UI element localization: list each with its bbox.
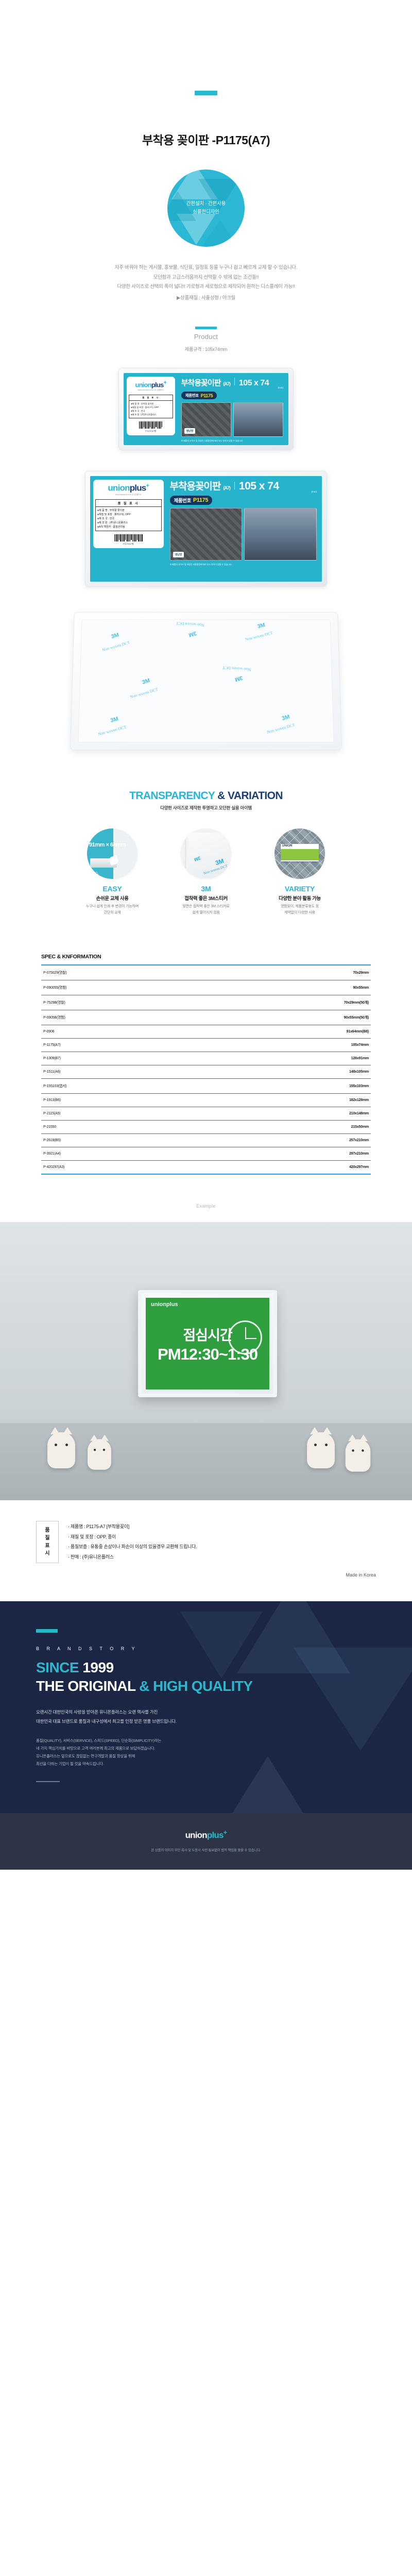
spec-code: P-1511(A6) bbox=[41, 1065, 202, 1079]
brand-since-label: SINCE bbox=[36, 1659, 79, 1675]
package-photo-fence: 냉난방 bbox=[181, 402, 231, 437]
feature-desc-line1: 누구나 쉽게 인쇄 후 변경이 가능하며 bbox=[79, 904, 146, 910]
package-quality-title: 품 질 표 시 bbox=[96, 500, 161, 507]
table-row: P-1913(B6)182x128mm bbox=[41, 1094, 371, 1107]
spec-size: 297x210mm bbox=[202, 1147, 371, 1161]
package-badge-label: 제품번호 bbox=[185, 393, 199, 398]
hero-desc-line-1: 자주 바꿔야 하는 게시물, 홍보물, 식단표, 일정표 등을 누구나 쉽고 빠… bbox=[0, 263, 412, 273]
package-foot-note: ※ 제품의 사이즈 및 모양은 사용환경에 따라 다소 차이가 있을 수 있습니… bbox=[181, 439, 283, 443]
title-divider bbox=[234, 482, 235, 489]
barcode-icon bbox=[129, 421, 173, 429]
product-spec-line: 제품규격 : 105x74mm bbox=[0, 346, 412, 352]
quality-info-lines: · 제품명 : P1175-A7 [부착용꽂이] · 재질 및 포장 : OPP… bbox=[59, 1521, 376, 1563]
table-row: P-3921(A4)297x210mm bbox=[41, 1147, 371, 1161]
package-badge-code: P1175 bbox=[201, 393, 213, 398]
table-row: P-155103(엽서)155x103mm bbox=[41, 1079, 371, 1094]
package-quality-box: 품 질 표 시 ●제 품 명 : 부착용 꽂이판 ●재질 및 포장 : 플라스틱… bbox=[95, 499, 162, 531]
package-shot-small: unionplus+ www.unionplus.co.kr 유니온플러스 품 … bbox=[118, 368, 294, 450]
brand-p2-line4: 최선을 다하는 기업이 될 것을 약속드립니다. bbox=[36, 1760, 376, 1768]
spec-code: P-420297(A3) bbox=[41, 1161, 202, 1175]
brand-paragraph-2: 품질(QUALITY), 서비스(SERVICE), 스피드(SPEED), 단… bbox=[36, 1737, 376, 1768]
product-detail-page: 부착용 꽂이판 -P1175(A7) 간편설치 · 간편사용 심플한디자인 자주… bbox=[0, 0, 412, 1870]
quality-info-section: 품 질 표 시 · 제품명 : P1175-A7 [부착용꽂이] · 재질 및 … bbox=[36, 1521, 376, 1563]
footer-logo-union: union bbox=[185, 1831, 207, 1840]
spec-code: P-3921(A4) bbox=[41, 1147, 202, 1161]
spec-code: P-2619(B5) bbox=[41, 1134, 202, 1147]
hero-desc-line-3: 다양한 사이즈로 선택의 폭이 넓다!! 가로형과 세로형으로 제작되어 원하는… bbox=[0, 282, 412, 292]
hero-badge-text: 간편설치 · 간편사용 심플한디자인 bbox=[186, 200, 226, 216]
feature-title-en: VARIETY bbox=[266, 885, 333, 893]
transparency-title-part2: & VARIATION bbox=[217, 790, 283, 802]
logo-plus-icon: + bbox=[146, 483, 149, 489]
package-quality-list: ●제 품 명 : 부착용 꽂이판 ●재질 및 포장 : 플라스틱, OPP ●제… bbox=[96, 507, 161, 531]
package-photo-display bbox=[244, 508, 317, 561]
spec-size: 148x105mm bbox=[202, 1065, 371, 1079]
hero-accent-bar bbox=[195, 91, 217, 95]
nonwoven-label: Non·woven DCT bbox=[101, 640, 130, 653]
table-row: P-0905B(명함)90x55mm(50개) bbox=[41, 1010, 371, 1025]
package-photo-fence: 냉난방 bbox=[170, 508, 243, 561]
page-title: 부착용 꽂이판 -P1175(A7) bbox=[0, 130, 412, 148]
lifestyle-display-frame: unionplus 점심시간 PM12:30~1:30 bbox=[138, 1290, 277, 1397]
list-item: ●제 조 원 : (주)유니온플러스 bbox=[131, 413, 171, 417]
feature-desc-line2: 쉽게 떨어지지 않음 bbox=[173, 910, 239, 916]
spec-size: 420x297mm bbox=[202, 1161, 371, 1175]
vtitle-char: 품 bbox=[45, 1527, 49, 1534]
feature-image-easy: 91mm × 64mm ♺♺ bbox=[87, 828, 138, 879]
package-code-text: P1175 A7형 bbox=[95, 543, 162, 546]
3m-logo-icon: 3M bbox=[110, 716, 119, 724]
list-item: ●제 조 국 : 한국 bbox=[131, 410, 171, 413]
spec-size: 105x74mm bbox=[202, 1039, 371, 1052]
package-badge-code: P1175 bbox=[193, 497, 208, 503]
table-row: P-7529B(명찰)70x29mm(50개) bbox=[41, 995, 371, 1010]
footer-logo-plus-icon: + bbox=[224, 1828, 227, 1836]
3m-logo-icon: 3M bbox=[234, 674, 244, 683]
list-item: ●제 조 원 : (주)유니온플러스 bbox=[97, 521, 160, 525]
spec-code: P-7529B(명찰) bbox=[41, 995, 202, 1010]
brand-p1-line1: 오랜시간 대한민국의 사랑을 받아온 유니온플러스는 오랜 역사를 가진 bbox=[36, 1708, 376, 1717]
brand-p2-line3: 유니온플러스는 앞으로도 끊임없는 연구개발과 품질 향상을 위해 bbox=[36, 1752, 376, 1760]
package-quality-box: 품 질 표 시 ●제 품 명 : 부착용 꽂이판 ●재질 및 포장 : 플라스틱… bbox=[129, 395, 173, 418]
page-footer: unionplus+ 본 상품의 이미지 무단 복사 및 도용시 사전 통보없이… bbox=[0, 1813, 412, 1870]
logo-url-text: www.unionplus.co.kr 유니온플러스 bbox=[95, 494, 162, 496]
nonwoven-label: Non·woven DCT bbox=[176, 621, 204, 627]
spec-size: 91x64mm(B8) bbox=[202, 1025, 371, 1039]
spec-table: P-075029(명찰)70x29mm P-090055(명함)90x55mm … bbox=[41, 964, 371, 1175]
brand-headline: THE ORIGINAL & HIGH QUALITY bbox=[36, 1678, 376, 1694]
3m-logo-icon: 3M bbox=[188, 630, 197, 638]
package-right-panel: 부착용꽂이판(A7) 105 x 74 (mm) 제품번호 P1175 냉난방 … bbox=[178, 373, 288, 445]
package-quality-title: 품 질 표 시 bbox=[129, 395, 173, 401]
feature-desc-line2: 간단히 교체 bbox=[79, 910, 146, 916]
package-badge-label: 제품번호 bbox=[174, 497, 191, 504]
hero-badge-line2: 심플한디자인 bbox=[186, 208, 226, 216]
logo-union-text: union bbox=[135, 381, 151, 388]
package-left-panel: unionplus+ www.unionplus.co.kr 유니온플러스 품 … bbox=[124, 373, 178, 445]
quality-info-vertical-title: 품 질 표 시 bbox=[36, 1521, 59, 1563]
table-row: P-420297(A3)420x297mm bbox=[41, 1161, 371, 1175]
spec-code: P-1309(B7) bbox=[41, 1052, 202, 1065]
barcode-icon bbox=[95, 534, 162, 541]
3m-logo-icon: 3M bbox=[111, 632, 120, 640]
package-title-size-note: (A7) bbox=[223, 486, 230, 490]
logo-union-text: union bbox=[108, 483, 129, 493]
table-row: P-1511(A6)148x105mm bbox=[41, 1065, 371, 1079]
package-dimension: 105 x 74 bbox=[239, 481, 279, 492]
feature-title-en: 3M bbox=[173, 885, 239, 893]
hero-section: 부착용 꽂이판 -P1175(A7) 간편설치 · 간편사용 심플한디자인 자주… bbox=[0, 0, 412, 303]
feature-desc-line1: 뒷면은 접착력 좋은 3M 스티커로 bbox=[173, 904, 239, 910]
feature-title-ko: 접착력 좋은 3M스티커 bbox=[173, 894, 239, 902]
brand-headline-cyan: & HIGH QUALITY bbox=[139, 1678, 252, 1694]
footer-logo-plus: plus bbox=[207, 1831, 224, 1840]
feature-image-3m: 3M Non·woven DCT 3M bbox=[181, 828, 231, 879]
hero-desc-line-2: 모던함과 고급스러움까지 선택할 수 밖에 없는 조건들!! bbox=[0, 273, 412, 283]
spec-code: P-075029(명찰) bbox=[41, 965, 202, 980]
spec-code: P-21550 bbox=[41, 1121, 202, 1134]
brand-divider bbox=[36, 1781, 60, 1782]
quality-info-line: · 판매 : (주)유니온플러스 bbox=[68, 1552, 376, 1562]
brand-paragraph-1: 오랜시간 대한민국의 사랑을 받아온 유니온플러스는 오랜 역사를 가진 대한민… bbox=[36, 1708, 376, 1726]
3m-logo-icon: 3M bbox=[281, 714, 290, 722]
brand-p1-line2: 대한민국 대표 브랜드로 품질과 내구성에서 최고를 인정 받은 명품 브랜드입… bbox=[36, 1717, 376, 1726]
feature-item-3m: 3M Non·woven DCT 3M 3M 접착력 좋은 3M스티커 뒷면은 … bbox=[173, 828, 239, 916]
package-photo-tag: 냉난방 bbox=[173, 552, 184, 557]
lifestyle-photo: unionplus 점심시간 PM12:30~1:30 bbox=[0, 1222, 412, 1500]
logo-plus-icon: + bbox=[163, 380, 166, 386]
3m-logo-icon: 3M bbox=[257, 622, 266, 630]
example-label: Example bbox=[0, 1204, 412, 1209]
transparency-subtitle: 다양한 사이즈로 제작한 투명하고 모던한 실용 아이템 bbox=[0, 805, 412, 811]
spec-size: 70x29mm(50개) bbox=[202, 995, 371, 1010]
nonwoven-label: Non·woven DCT bbox=[222, 665, 251, 672]
package-face: unionplus+ www.unionplus.co.kr 유니온플러스 품 … bbox=[90, 476, 322, 582]
spec-size: 155x103mm bbox=[202, 1079, 371, 1094]
transparency-section: TRANSPARENCY & VARIATION 다양한 사이즈로 제작한 투명… bbox=[0, 790, 412, 916]
vtitle-char: 질 bbox=[45, 1534, 49, 1542]
spec-size: 215x50mm bbox=[202, 1121, 371, 1134]
lifestyle-insert-card: unionplus 점심시간 PM12:30~1:30 bbox=[146, 1298, 269, 1389]
spec-heading: SPEC & KNFORMATION bbox=[41, 954, 371, 960]
spec-size: 210x148mm bbox=[202, 1107, 371, 1121]
spec-size: 90x55mm(50개) bbox=[202, 1010, 371, 1025]
package-code-text: P1175 A7형 bbox=[129, 430, 173, 433]
package-title-ko: 부착용꽂이판 bbox=[170, 482, 221, 492]
feature-title-en: EASY bbox=[79, 885, 146, 893]
facet-decor-icon bbox=[198, 220, 242, 247]
sign-logo-text: UNION bbox=[282, 844, 292, 848]
list-item: ●재질 및 포장 : 플라스틱, OPP bbox=[97, 513, 160, 517]
spec-code: P-0906 bbox=[41, 1025, 202, 1039]
list-item: ●제 품 명 : 부착용 꽂이판 bbox=[131, 402, 171, 406]
spec-code: P-1913(B6) bbox=[41, 1094, 202, 1107]
package-photo-strip: 냉난방 bbox=[170, 508, 317, 561]
lifestyle-line1: 점심시간 bbox=[183, 1324, 232, 1344]
package-dimension: 105 x 74 bbox=[239, 379, 269, 387]
table-row: P-21550215x50mm bbox=[41, 1121, 371, 1134]
nonwoven-label: Non·woven DCT bbox=[266, 722, 296, 735]
product-section-label: Product bbox=[0, 327, 412, 341]
sign-card-icon: UNION bbox=[281, 844, 319, 861]
feature-title-ko: 다양한 분야 활동 가능 bbox=[266, 894, 333, 902]
package-photo-tag: 냉난방 bbox=[184, 428, 196, 434]
table-row: P-2619(B5)257x210mm bbox=[41, 1134, 371, 1147]
table-row: P-2115(A5)210x148mm bbox=[41, 1107, 371, 1121]
package-photo-strip: 냉난방 bbox=[181, 402, 283, 437]
spec-section: SPEC & KNFORMATION P-075029(명찰)70x29mm P… bbox=[41, 954, 371, 1175]
3m-logo-icon: 3M bbox=[142, 677, 151, 686]
package-title-ko: 부착용꽂이판 bbox=[181, 379, 221, 387]
package-code-badge: 제품번호 P1175 bbox=[181, 392, 217, 399]
sign-banner bbox=[281, 849, 319, 860]
feature-desc: 누구나 쉽게 인쇄 후 변경이 가능하며 간단히 교체 bbox=[79, 904, 146, 916]
package-photo-display bbox=[233, 402, 283, 437]
recycle-icon: ♺♺ bbox=[91, 871, 98, 876]
table-row: P-1175(A7)105x74mm bbox=[41, 1039, 371, 1052]
transparency-title-part1: TRANSPARENCY bbox=[129, 790, 215, 802]
cat-figurine-icon bbox=[47, 1432, 75, 1468]
product-label-bar bbox=[195, 327, 217, 329]
feature-item-variety: UNION VARIETY 다양한 분야 활동 가능 명함꽂이, 제품분류용도 … bbox=[266, 828, 333, 916]
logo-url-text: www.unionplus.co.kr 유니온플러스 bbox=[129, 389, 173, 392]
feature-title-ko: 손쉬운 교체 사용 bbox=[79, 894, 146, 902]
spec-code: P-155103(엽서) bbox=[41, 1079, 202, 1094]
package-right-panel: 부착용꽂이판(A7) 105 x 74 (mm) 제품번호 P1175 냉난방 … bbox=[167, 476, 322, 582]
cat-figurine-icon bbox=[346, 1439, 371, 1472]
package-brand-card: unionplus+ www.unionplus.co.kr 유니온플러스 품 … bbox=[127, 377, 175, 435]
feature-desc-line2: 제약없이 다양한 사용 bbox=[266, 910, 333, 916]
table-row: P-090691x64mm(B8) bbox=[41, 1025, 371, 1039]
hero-badge-line1: 간편설치 · 간편사용 bbox=[186, 200, 226, 208]
package-title-size-note: (A7) bbox=[223, 382, 230, 386]
hero-badge-wrap: 간편설치 · 간편사용 심플한디자인 bbox=[0, 170, 412, 247]
package-code-badge: 제품번호 P1175 bbox=[170, 496, 213, 505]
brand-story-section: B R A N D S T O R Y SINCE 1999 THE ORIGI… bbox=[0, 1601, 412, 1813]
cat-figurine-icon bbox=[88, 1439, 111, 1470]
feature-dimension-caption: 91mm × 64mm bbox=[89, 842, 126, 848]
spec-code: P-0905B(명함) bbox=[41, 1010, 202, 1025]
brand-since-year: 1999 bbox=[82, 1659, 113, 1675]
nonwoven-label: Non·woven DCT bbox=[245, 631, 273, 642]
brand-p2-line2: 네 가지 핵심가치를 바탕으로 고객 여러분께 최고의 제품으로 보답하겠습니다… bbox=[36, 1744, 376, 1752]
logo-plus-text: plus bbox=[151, 381, 164, 388]
package-quality-list: ●제 품 명 : 부착용 꽂이판 ●재질 및 포장 : 플라스틱, OPP ●제… bbox=[129, 401, 173, 418]
spec-size: 70x29mm bbox=[202, 965, 371, 980]
made-in-label: Made in Korea bbox=[36, 1572, 376, 1578]
vtitle-char: 시 bbox=[45, 1550, 49, 1557]
cat-figurine-icon bbox=[307, 1432, 335, 1468]
list-item: ●제 품 명 : 부착용 꽂이판 bbox=[97, 509, 160, 513]
package-shot-back-adhesive: 3M Non·woven DCT 3M Non·woven DCT 3M Non… bbox=[70, 612, 342, 751]
vtitle-char: 표 bbox=[45, 1542, 49, 1550]
list-item: ●재질 및 포장 : 플라스틱, OPP bbox=[131, 406, 171, 410]
footer-copyright-note: 본 상품의 이미지 무단 복사 및 도용시 사전 통보없이 법적 책임을 물을 … bbox=[0, 1847, 412, 1852]
table-row: P-090055(명함)90x55mm bbox=[41, 980, 371, 995]
feature-desc-line1: 명함꽂이, 제품분류용도 등 bbox=[266, 904, 333, 910]
list-item: ●제 조 국 : 한국 bbox=[97, 517, 160, 521]
quality-info-line: · 제품명 : P1175-A7 [부착용꽂이] bbox=[68, 1522, 376, 1532]
product-label-text: Product bbox=[0, 333, 412, 341]
nonwoven-label: Non·woven DCT bbox=[97, 724, 127, 737]
list-item: ●A/S 책임자 : 품질관리팀 bbox=[97, 525, 160, 529]
package-shot-large: unionplus+ www.unionplus.co.kr 유니온플러스 품 … bbox=[85, 471, 327, 587]
feature-desc: 명함꽂이, 제품분류용도 등 제약없이 다양한 사용 bbox=[266, 904, 333, 916]
brand-accent-bar bbox=[36, 1629, 58, 1633]
logo-plus-text: plus bbox=[130, 483, 146, 493]
spec-size: 90x55mm bbox=[202, 980, 371, 995]
clock-icon bbox=[228, 1320, 262, 1354]
nonwoven-label: Non·woven DCT bbox=[129, 687, 158, 699]
package-face: unionplus+ www.unionplus.co.kr 유니온플러스 품 … bbox=[124, 373, 288, 445]
title-divider bbox=[234, 378, 235, 385]
spec-size: 128x91mm bbox=[202, 1052, 371, 1065]
spec-table-body: P-075029(명찰)70x29mm P-090055(명함)90x55mm … bbox=[41, 965, 371, 1174]
transparency-title: TRANSPARENCY & VARIATION bbox=[0, 790, 412, 802]
package-title-row: 부착용꽂이판(A7) 105 x 74 bbox=[170, 481, 317, 492]
brand-story-eyebrow: B R A N D S T O R Y bbox=[36, 1646, 376, 1651]
table-row: P-1309(B7)128x91mm bbox=[41, 1052, 371, 1065]
spec-code: P-090055(명함) bbox=[41, 980, 202, 995]
feature-list: 91mm × 64mm ♺♺ EASY 손쉬운 교체 사용 누구나 쉽게 인쇄 … bbox=[0, 828, 412, 916]
feature-desc: 뒷면은 접착력 좋은 3M 스티커로 쉽게 떨어지지 않음 bbox=[173, 904, 239, 916]
hero-material-line: ▶상품재질 : 사출성형 / 아크릴 bbox=[0, 294, 412, 303]
panel-edge-icon bbox=[185, 834, 187, 876]
quality-info-line: · 품질보증 : 유통중 손상이나 파손이 이상의 있을경우 교환해 드립니다. bbox=[68, 1542, 376, 1552]
package-foot-note: ※ 제품의 사이즈 및 모양은 사용환경에 따라 다소 차이가 있을 수 있습니… bbox=[170, 563, 317, 566]
unionplus-logo: unionplus+ bbox=[95, 483, 162, 493]
table-row: P-075029(명찰)70x29mm bbox=[41, 965, 371, 980]
brand-p2-line1: 품질(QUALITY), 서비스(SERVICE), 스피드(SPEED), 단… bbox=[36, 1737, 376, 1744]
unionplus-logo: unionplus+ bbox=[129, 380, 173, 388]
footer-logo: unionplus+ bbox=[0, 1828, 412, 1841]
hero-badge-circle: 간편설치 · 간편사용 심플한디자인 bbox=[167, 170, 245, 247]
package-left-panel: unionplus+ www.unionplus.co.kr 유니온플러스 품 … bbox=[90, 476, 167, 582]
adhesive-sheet: 3M Non·woven DCT 3M Non·woven DCT 3M Non… bbox=[78, 619, 334, 742]
feature-item-easy: 91mm × 64mm ♺♺ EASY 손쉬운 교체 사용 누구나 쉽게 인쇄 … bbox=[79, 828, 146, 916]
spec-code: P-1175(A7) bbox=[41, 1039, 202, 1052]
spec-size: 257x210mm bbox=[202, 1134, 371, 1147]
spec-code: P-2115(A5) bbox=[41, 1107, 202, 1121]
quality-info-line: · 재질 및 포장 : OPP, 종이 bbox=[68, 1532, 376, 1542]
brand-since-line: SINCE 1999 bbox=[36, 1659, 376, 1676]
spec-size: 182x128mm bbox=[202, 1094, 371, 1107]
package-brand-card: unionplus+ www.unionplus.co.kr 유니온플러스 품 … bbox=[93, 480, 164, 548]
feature-image-variety: UNION bbox=[274, 828, 325, 879]
lifestyle-logo-text: unionplus bbox=[151, 1301, 178, 1308]
hero-description: 자주 바꿔야 하는 게시물, 홍보물, 식단표, 일정표 등을 누구나 쉽고 빠… bbox=[0, 263, 412, 303]
brand-headline-white: THE ORIGINAL bbox=[36, 1678, 135, 1694]
